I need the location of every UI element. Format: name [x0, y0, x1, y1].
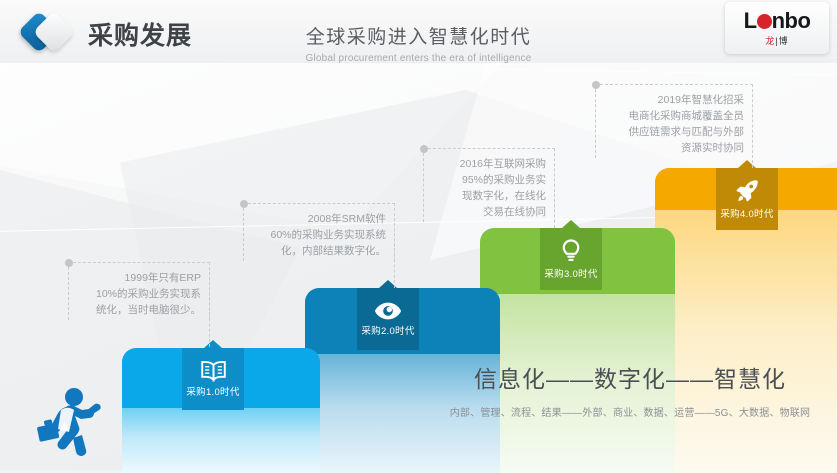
- lonbo-cn-left: 龙: [765, 36, 775, 46]
- callout-3-line-2: 95%的采购业务实: [432, 172, 546, 188]
- step-3-badge-tip: [562, 220, 580, 228]
- step-1-label: 采购1.0时代: [186, 384, 239, 398]
- slide-canvas: 采购发展 全球采购进入智慧化时代 Global procurement ente…: [0, 0, 837, 473]
- lonbo-letters-nbo: nbo: [772, 8, 811, 33]
- step-3-badge-body: 采购3.0时代: [540, 228, 602, 290]
- callout-1: 1999年只有ERP 10%的采购业务实现系 统化，当时电脑很少。: [68, 262, 210, 320]
- step-1-riser: [122, 408, 320, 473]
- lonbo-letter-l: L: [744, 8, 757, 33]
- step-4-badge[interactable]: 采购4.0时代: [716, 168, 778, 230]
- running-businessman-icon: [28, 383, 114, 471]
- callout-4-line-1: 2019年智慧化招采: [604, 92, 744, 108]
- callout-1-dot: [65, 259, 73, 267]
- step-2-badge[interactable]: 采购2.0时代: [357, 288, 419, 350]
- lonbo-chinese-name: 龙|博: [765, 34, 788, 47]
- callout-4-line-4: 资源实时协同: [604, 140, 744, 156]
- callout-2-dot: [240, 200, 248, 208]
- bottom-subline: 内部、管理、流程、结果——外部、商业、数据、运营——5G、大数据、物联网: [430, 404, 830, 419]
- eye-icon: [374, 301, 402, 321]
- callout-3-dot: [420, 145, 428, 153]
- step-1-badge-body: 采购1.0时代: [182, 348, 244, 410]
- callout-1-line-3: 统化，当时电脑很少。: [77, 302, 201, 318]
- step-1-badge-tip: [204, 340, 222, 348]
- callout-4-stem: [752, 84, 753, 168]
- bottom-message: 信息化——数字化——智慧化 内部、管理、流程、结果——外部、商业、数据、运营——…: [430, 360, 830, 419]
- callout-3-line-4: 交易在线协同: [432, 204, 546, 220]
- bottom-headline: 信息化——数字化——智慧化: [430, 360, 830, 394]
- lonbo-dot-icon: [757, 14, 772, 29]
- step-4-riser: [655, 210, 837, 473]
- slide-title-block: 全球采购进入智慧化时代 Global procurement enters th…: [0, 22, 837, 64]
- lonbo-logo: Lnbo 龙|博: [725, 2, 829, 54]
- step-2-label: 采购2.0时代: [361, 323, 414, 337]
- step-1-badge[interactable]: 采购1.0时代: [182, 348, 244, 410]
- rocket-icon: [734, 178, 760, 204]
- step-4-badge-tip: [738, 160, 756, 168]
- callout-2-line-2: 60%的采购业务实现系统: [252, 227, 386, 243]
- step-4-label: 采购4.0时代: [720, 206, 773, 220]
- callout-3-line-1: 2016年互联网采购: [432, 156, 546, 172]
- step-3-badge[interactable]: 采购3.0时代: [540, 228, 602, 290]
- callout-2-line-3: 化，内部结果数字化。: [252, 243, 386, 259]
- callout-1-stem: [209, 262, 210, 347]
- book-icon: [200, 360, 227, 382]
- callout-2-line-1: 2008年SRM软件: [252, 211, 386, 227]
- lightbulb-icon: [559, 238, 583, 264]
- callout-3-line-3: 现数字化，在线化: [432, 188, 546, 204]
- slide-title-cn: 全球采购进入智慧化时代: [0, 22, 837, 49]
- callout-3-stem: [554, 148, 555, 228]
- callout-4-dot: [592, 81, 600, 89]
- step-3-label: 采购3.0时代: [544, 266, 597, 280]
- callout-4: 2019年智慧化招采 电商化采购商城覆盖全员 供应链需求与匹配与外部 资源实时协…: [595, 84, 753, 158]
- callout-4-line-3: 供应链需求与匹配与外部: [604, 124, 744, 140]
- lonbo-cn-right: 博: [779, 36, 789, 46]
- callout-2-stem: [394, 203, 395, 288]
- lonbo-wordmark: Lnbo: [744, 10, 811, 32]
- callout-2: 2008年SRM软件 60%的采购业务实现系统 化，内部结果数字化。: [243, 203, 395, 261]
- callout-1-line-2: 10%的采购业务实现系: [77, 286, 201, 302]
- callout-1-line-1: 1999年只有ERP: [77, 270, 201, 286]
- step-2-badge-body: 采购2.0时代: [357, 288, 419, 350]
- callout-3: 2016年互联网采购 95%的采购业务实 现数字化，在线化 交易在线协同: [423, 148, 555, 222]
- slide-title-en: Global procurement enters the era of int…: [0, 53, 837, 64]
- callout-4-line-2: 电商化采购商城覆盖全员: [604, 108, 744, 124]
- header: 采购发展 全球采购进入智慧化时代 Global procurement ente…: [0, 0, 837, 62]
- step-4-badge-body: 采购4.0时代: [716, 168, 778, 230]
